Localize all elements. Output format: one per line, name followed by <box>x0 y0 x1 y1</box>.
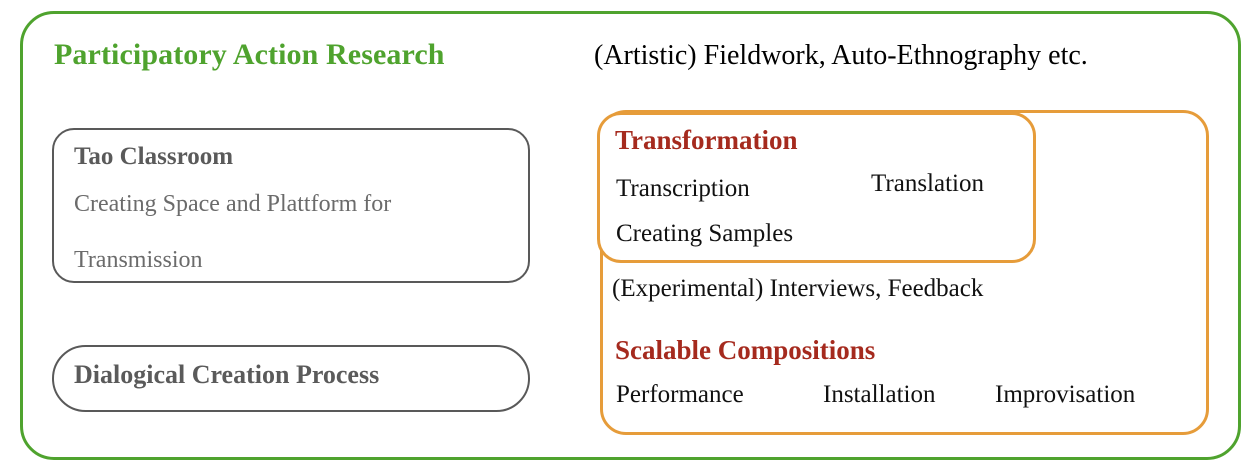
scalable-item-improvisation: Improvisation <box>995 382 1135 407</box>
experimental-interviews-feedback-note: (Experimental) Interviews, Feedback <box>612 276 983 301</box>
transformation-item-creating-samples: Creating Samples <box>616 221 793 246</box>
box-tao-classroom-line-2: Transmission <box>74 248 202 272</box>
scalable-compositions-heading: Scalable Compositions <box>615 337 875 364</box>
diagram-canvas: Participatory Action Research (Artistic)… <box>0 0 1259 475</box>
box-dialogical-creation-process-title: Dialogical Creation Process <box>74 362 379 388</box>
scalable-item-performance: Performance <box>616 382 744 407</box>
scalable-item-installation: Installation <box>823 382 935 407</box>
fieldwork-caption: (Artistic) Fieldwork, Auto-Ethnography e… <box>594 42 1088 70</box>
transformation-item-translation: Translation <box>871 171 984 196</box>
box-tao-classroom-line-1: Creating Space and Plattform for <box>74 192 391 216</box>
box-tao-classroom-title: Tao Classroom <box>74 144 233 169</box>
page-title: Participatory Action Research <box>54 40 445 70</box>
transformation-item-transcription: Transcription <box>616 176 750 201</box>
transformation-heading: Transformation <box>615 127 798 154</box>
